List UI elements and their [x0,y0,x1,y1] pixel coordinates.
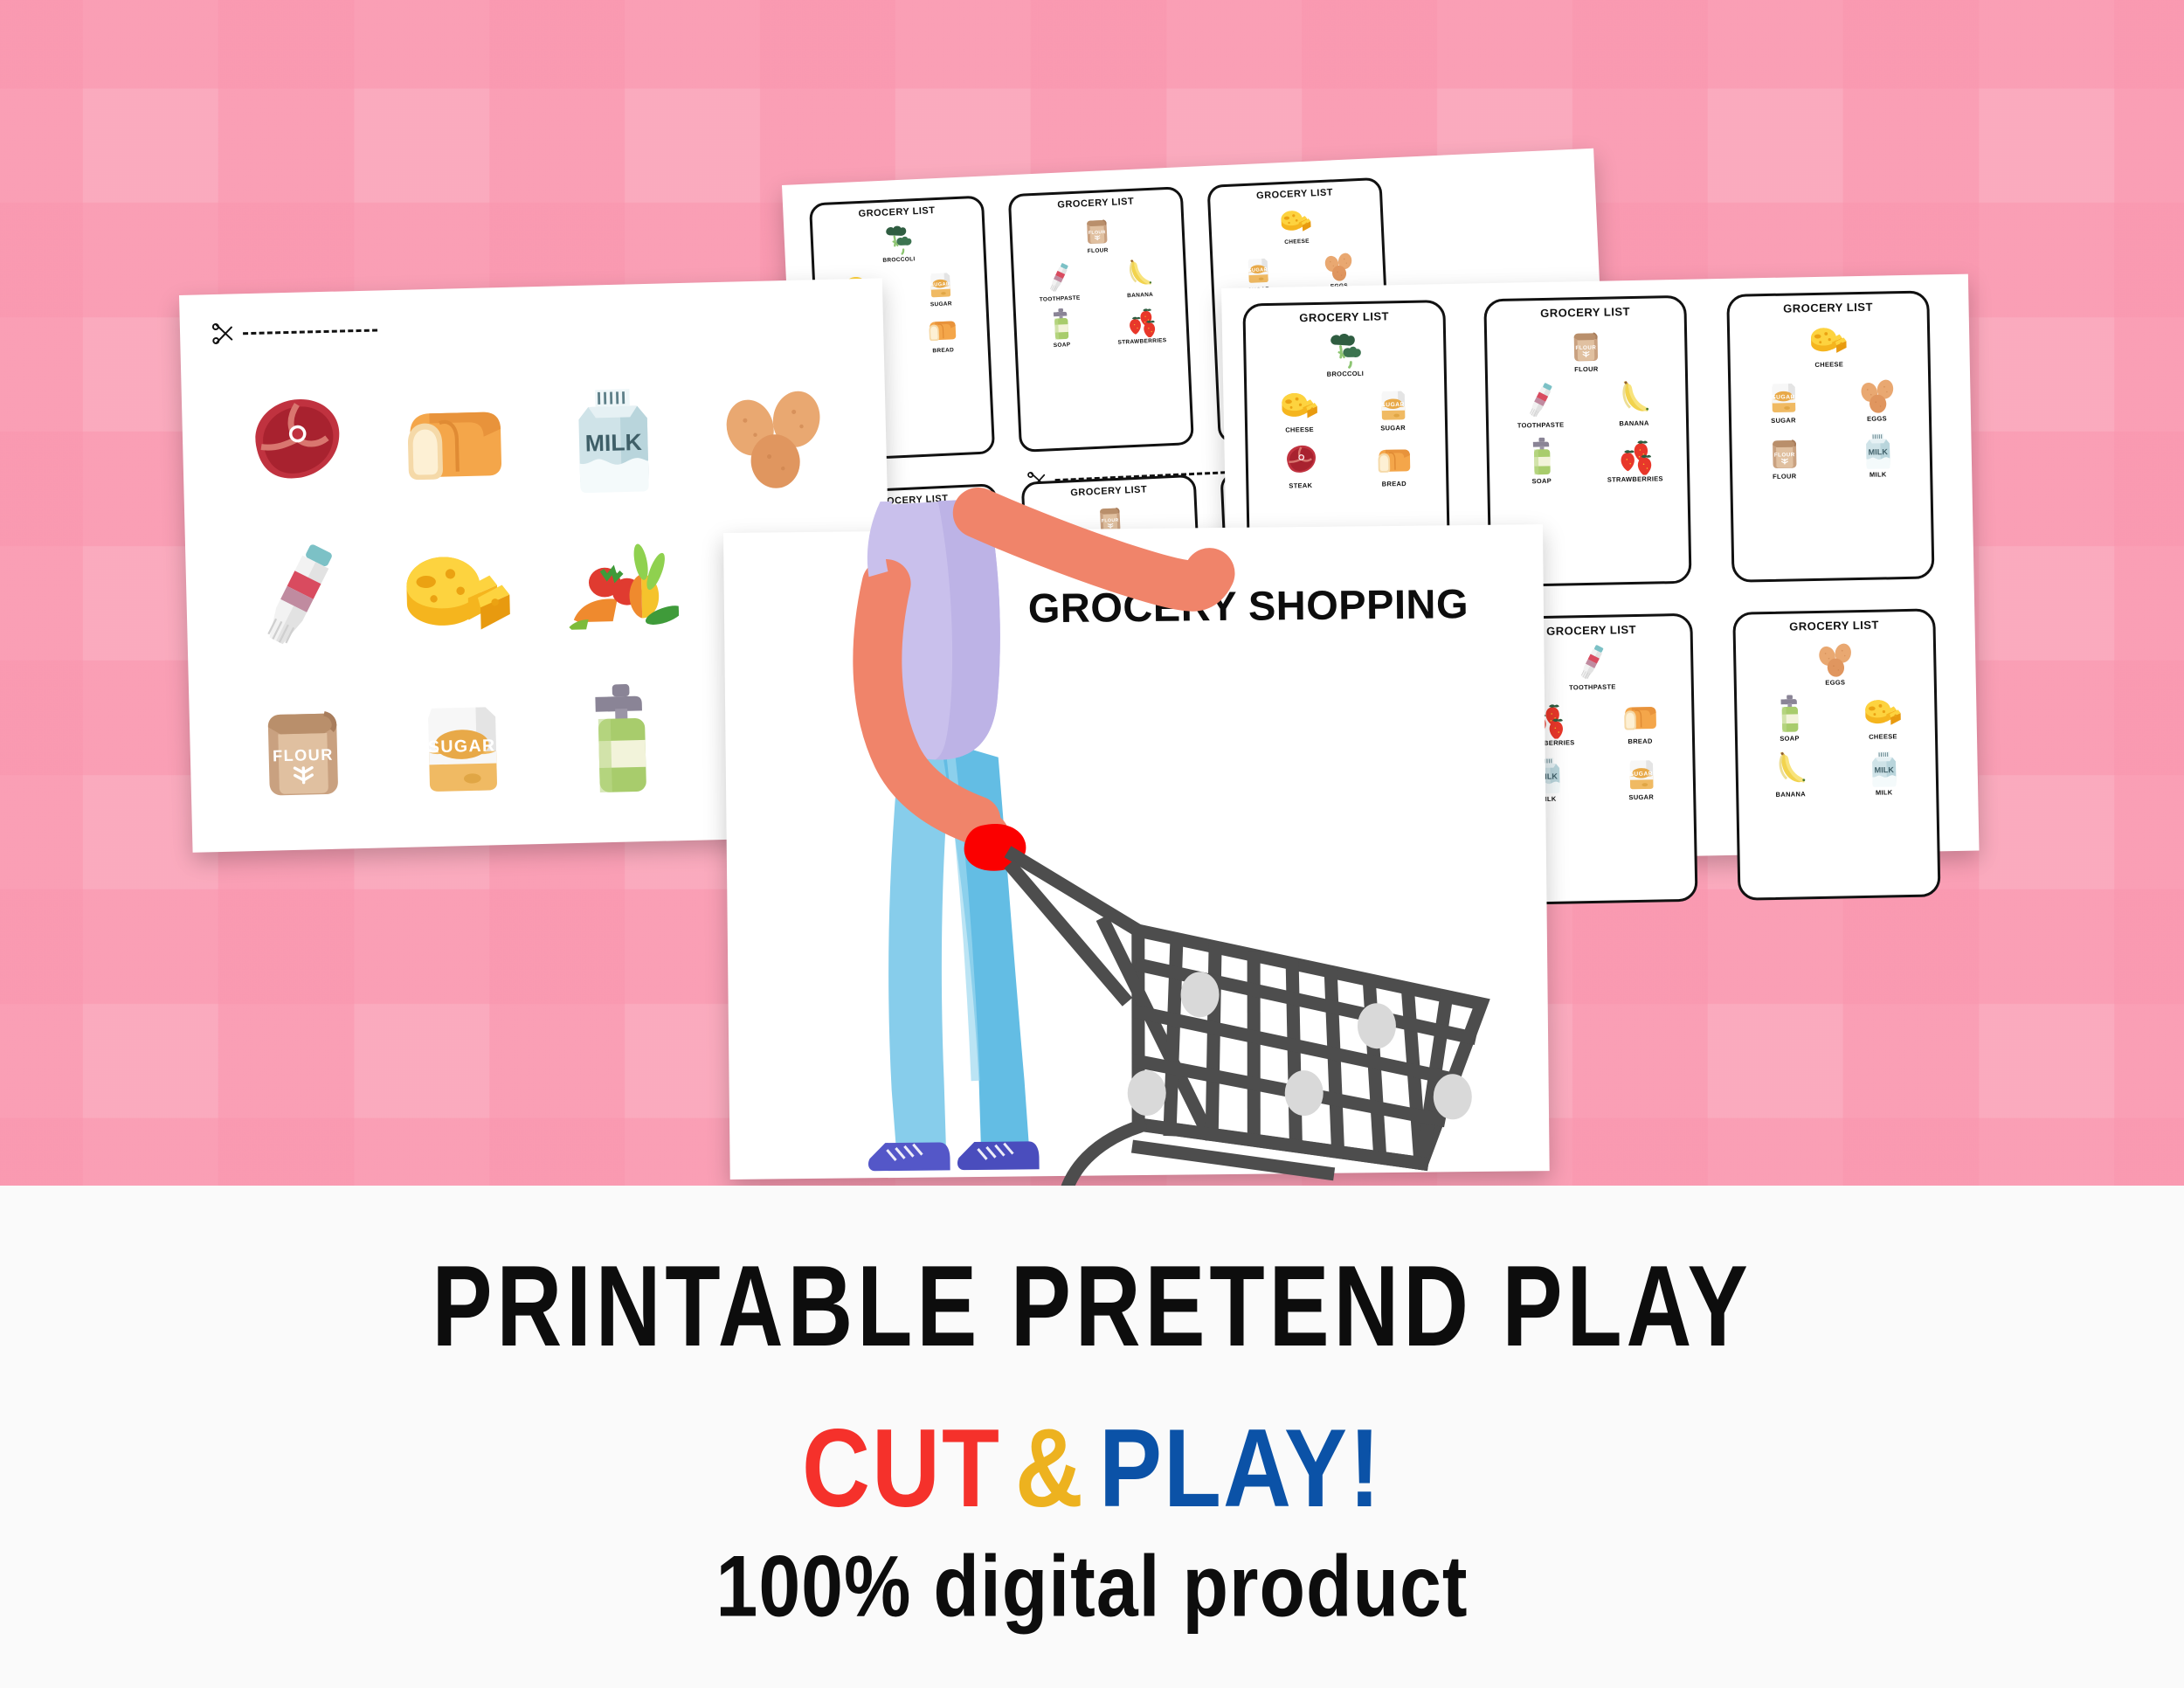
item-label: CHEESE [1814,361,1843,369]
item-label: FLOUR [1773,473,1796,481]
eggs-icon [1320,246,1357,283]
grocery-item: SOAP [1744,692,1835,744]
card-item-grid: BROCCOLICHEESESUGARSTEAKBREAD [1246,326,1446,490]
grocery-item: TOOTHPASTE [1495,378,1586,430]
item-label: EGGS [1867,416,1887,424]
eggs-icon [1814,636,1856,679]
item-label: SOAP [1054,342,1071,349]
sugar-icon [1240,251,1276,287]
grocery-item: FLOUR [1016,209,1178,258]
grocery-item: BREAD [903,310,982,356]
item-label: BANANA [1127,292,1153,299]
card-title: GROCERY LIST [1486,304,1683,321]
flour-icon [1565,323,1607,366]
eggs-icon [1856,372,1898,415]
grocery-item: BANANA [1588,377,1679,428]
grocery-item: BROCCOLI [1251,326,1439,379]
item-label: SUGAR [930,301,952,308]
bread-icon [924,311,961,348]
milk-icon [550,373,675,498]
item-label: SUGAR [1628,793,1654,801]
grocery-item: EGGS [1741,635,1929,688]
soap-icon [1043,306,1080,342]
card-title: GROCERY LIST [1246,308,1443,325]
grocery-item: MILK [1838,745,1929,797]
soap-icon [1768,692,1811,735]
sugar-icon [1620,751,1662,793]
banana-icon [1613,377,1655,420]
grocery-item: SUGAR [1347,382,1438,433]
sugar-icon [1762,374,1805,417]
item-card-steak[interactable] [214,366,377,522]
grocery-item: FLOUR [1492,322,1680,375]
grocery-item: BANANA [1745,747,1835,799]
item-label: TOOTHPASTE [1517,422,1565,430]
item-label: FLOUR [1088,247,1109,254]
banana-icon [1121,256,1158,293]
milk-icon [1856,428,1899,471]
toothpaste-icon [237,532,362,657]
promo-subline: 100% digital product [0,1538,2184,1637]
card-title: GROCERY LIST [1729,300,1926,316]
item-card-toothpaste[interactable] [218,517,380,673]
broccoli-icon [1324,328,1366,370]
strawberries-icon [1123,302,1160,339]
item-label: STRAWBERRIES [1607,475,1663,483]
grocery-item: SOAP [1022,305,1101,350]
item-label: EGGS [1825,679,1845,687]
card-item-grid: EGGSSOAPCHEESEBANANAMILK [1736,634,1936,799]
card-title: GROCERY LIST [1735,617,1932,633]
item-card-flour[interactable] [222,668,384,824]
flour-icon [240,683,365,808]
item-label: CHEESE [1285,426,1314,434]
flour-icon [1079,211,1116,248]
item-label: TOOTHPASTE [1569,683,1616,691]
poster-canvas: GROCERY LISTBROCCOLICHEESESUGARSTEAKBREA… [0,0,2184,1688]
grocery-item: CHEESE [1215,199,1378,248]
cta-ampersand: & [1001,1405,1099,1530]
item-label: SUGAR [1380,425,1406,432]
grocery-list-card[interactable]: GROCERY LISTEGGSSOAPCHEESEBANANAMILK [1732,608,1940,900]
grocery-item: FLOUR [1738,429,1829,481]
cheese-icon [1278,384,1321,426]
grocery-item: SUGAR [901,264,979,309]
card-item-grid: FLOURTOOTHPASTEBANANASOAPSTRAWBERRIES [1012,208,1187,350]
card-item-grid: CHEESESUGAREGGSFLOURMILK [1730,316,1930,481]
item-label: CHEESE [1869,733,1897,741]
broccoli-icon [880,220,916,257]
item-label: MILK [1870,471,1887,479]
grocery-item: TOOTHPASTE [1019,259,1098,304]
item-label: TOOTHPASTE [1040,295,1081,303]
cheese-icon [1278,202,1315,239]
cheese-icon [1861,690,1904,733]
grocery-item: STRAWBERRIES [1589,432,1680,483]
item-label: MILK [1876,789,1893,797]
grocery-list-card[interactable]: GROCERY LISTCHEESESUGAREGGSFLOURMILK [1726,290,1934,582]
strawberries-icon [1614,432,1656,475]
banana-icon [1769,748,1812,791]
item-label: FLOUR [1574,366,1598,374]
cheese-icon [1807,318,1850,361]
grocery-item: BROCCOLI [817,218,979,266]
steak-icon [232,381,357,506]
bread-icon [1619,695,1662,738]
item-label: BREAD [1628,738,1652,746]
grocery-shopping-cover-card[interactable]: GROCERY SHOPPING [723,524,1550,1180]
grocery-item: EGGS [1299,246,1378,291]
toothpaste-icon [1519,379,1562,422]
item-label: BANANA [1619,420,1648,428]
grocery-item: EGGS [1831,372,1922,424]
cut-line-horizontal [211,316,378,347]
grocery-item: CHEESE [1254,384,1344,435]
item-label: SUGAR [1771,418,1796,425]
scissors-icon [211,320,238,347]
grocery-list-card[interactable]: GROCERY LISTFLOURTOOTHPASTEBANANASOAPSTR… [1008,186,1194,453]
promo-headline: PRINTABLE PRETEND PLAY [44,1239,2140,1373]
eggs-icon [709,369,834,494]
grocery-item: MILK [1832,427,1923,479]
item-label: BROCCOLI [882,256,915,264]
item-label: BROCCOLI [1327,370,1365,378]
promo-cta: CUT&PLAY! [0,1403,2184,1532]
woman-with-cart-illustration [443,472,1552,1200]
item-label: BANANA [1776,791,1806,799]
grocery-item: CHEESE [1735,317,1923,370]
milk-icon [1863,746,1905,789]
item-label: STRAWBERRIES [1117,337,1166,346]
sugar-icon [1372,382,1414,425]
flour-icon [1763,430,1806,473]
soap-icon [1520,434,1563,477]
toothpaste-icon [1571,640,1614,683]
grocery-item: CHEESE [1837,690,1928,742]
grocery-item: STRAWBERRIES [1102,301,1180,347]
grocery-item: SUGAR [1738,374,1828,425]
cta-word-play: PLAY! [1099,1405,1382,1530]
card-item-grid: FLOURTOOTHPASTEBANANASOAPSTRAWBERRIES [1487,322,1687,486]
grocery-item: SUGAR [1595,750,1686,801]
cta-word-cut: CUT [802,1405,1001,1530]
item-label: CHEESE [1284,239,1310,246]
grocery-item: BANANA [1100,255,1178,301]
grocery-item: BREAD [1594,695,1685,746]
item-label: SOAP [1780,736,1800,744]
sugar-icon [922,265,958,301]
item-label: BREAD [932,348,954,355]
toothpaste-icon [1040,259,1077,296]
